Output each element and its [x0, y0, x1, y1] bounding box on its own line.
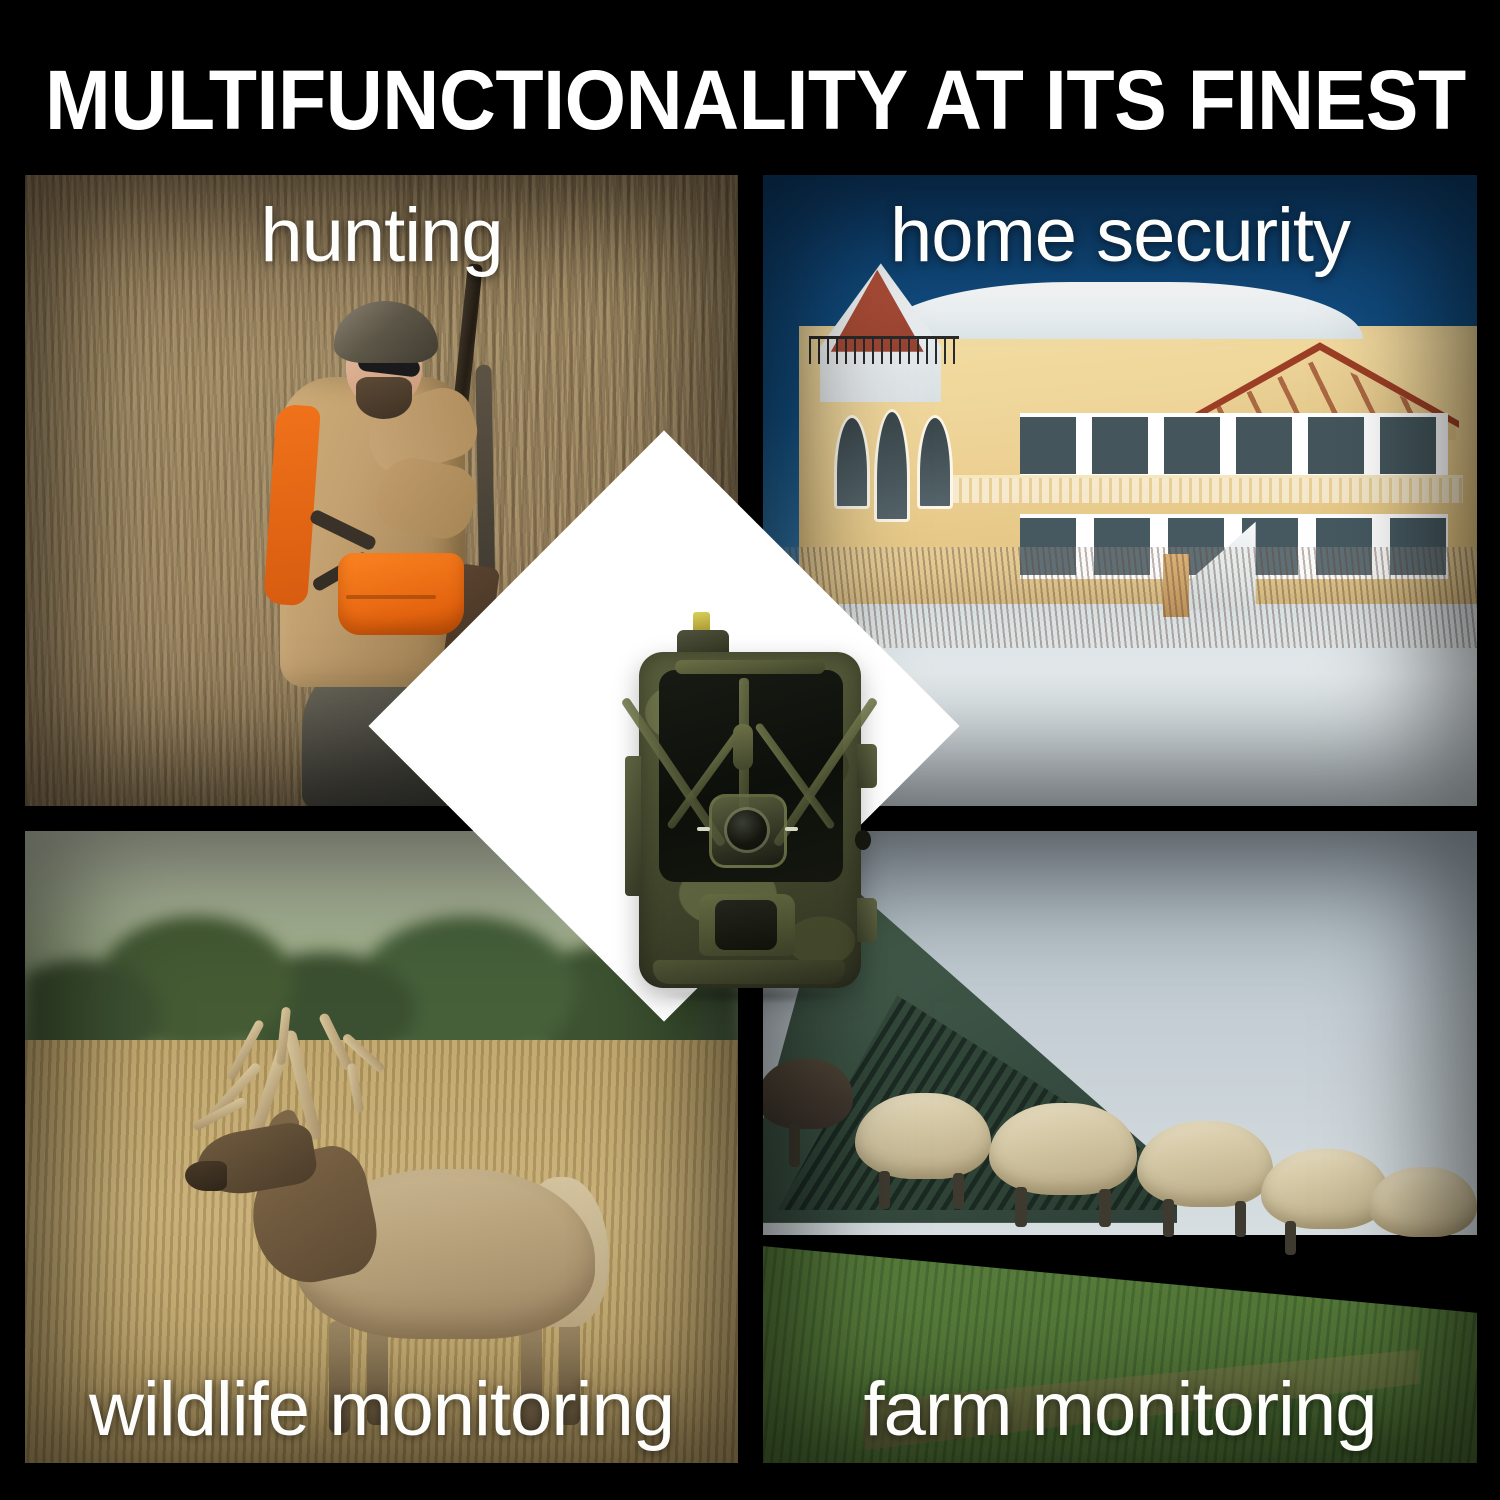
- panel-label-hunting: hunting: [25, 193, 738, 279]
- sheep: [1261, 1149, 1389, 1229]
- housing-hinge: [625, 756, 641, 896]
- camo-cap: [334, 301, 438, 363]
- side-latch-bottom: [857, 898, 877, 942]
- sheep-leg: [879, 1171, 890, 1209]
- upper-window-row: [1020, 413, 1448, 478]
- camera-lens: [727, 810, 767, 850]
- sheep: [989, 1103, 1137, 1195]
- lens-tick-left: [697, 827, 710, 831]
- page-title: MULTIFUNCTIONALITY AT ITS FINEST: [45, 52, 1455, 148]
- trail-camera-product[interactable]: [625, 608, 877, 1008]
- elk-muzzle: [185, 1161, 227, 1191]
- product-feature-poster: MULTIFUNCTIONALITY AT ITS FINEST: [0, 0, 1500, 1500]
- sheep-leg: [1285, 1221, 1296, 1255]
- panel-label-wildlife-monitoring: wildlife monitoring: [25, 1367, 738, 1453]
- hunter-beard: [356, 377, 412, 419]
- side-latch-top: [857, 744, 877, 788]
- pir-sensor-window: [715, 900, 777, 950]
- sheep: [1137, 1121, 1273, 1207]
- orange-belt-pouch: [338, 553, 464, 635]
- panel-label-farm-monitoring: farm monitoring: [763, 1367, 1477, 1453]
- antler-tine: [347, 1063, 365, 1114]
- sheep: [1369, 1167, 1477, 1237]
- turret-railing: [809, 336, 959, 364]
- indicator-slot: [733, 724, 753, 770]
- housing-base: [653, 960, 845, 984]
- sheep-leg: [1163, 1199, 1174, 1237]
- sheep-leg: [1015, 1187, 1027, 1227]
- face-top-bar: [675, 660, 825, 674]
- lens-tick-right: [785, 827, 798, 831]
- product-shadow: [659, 988, 849, 1004]
- balcony-railing: [949, 475, 1463, 503]
- panel-label-home-security: home security: [763, 193, 1477, 279]
- sheep-leg: [953, 1173, 964, 1209]
- sheep: [855, 1093, 991, 1179]
- sheep-leg: [1099, 1189, 1111, 1227]
- mounting-hole: [855, 830, 871, 850]
- sheep-dark: [763, 1059, 853, 1129]
- sheep-leg: [789, 1123, 800, 1167]
- sheep-leg: [1235, 1201, 1246, 1237]
